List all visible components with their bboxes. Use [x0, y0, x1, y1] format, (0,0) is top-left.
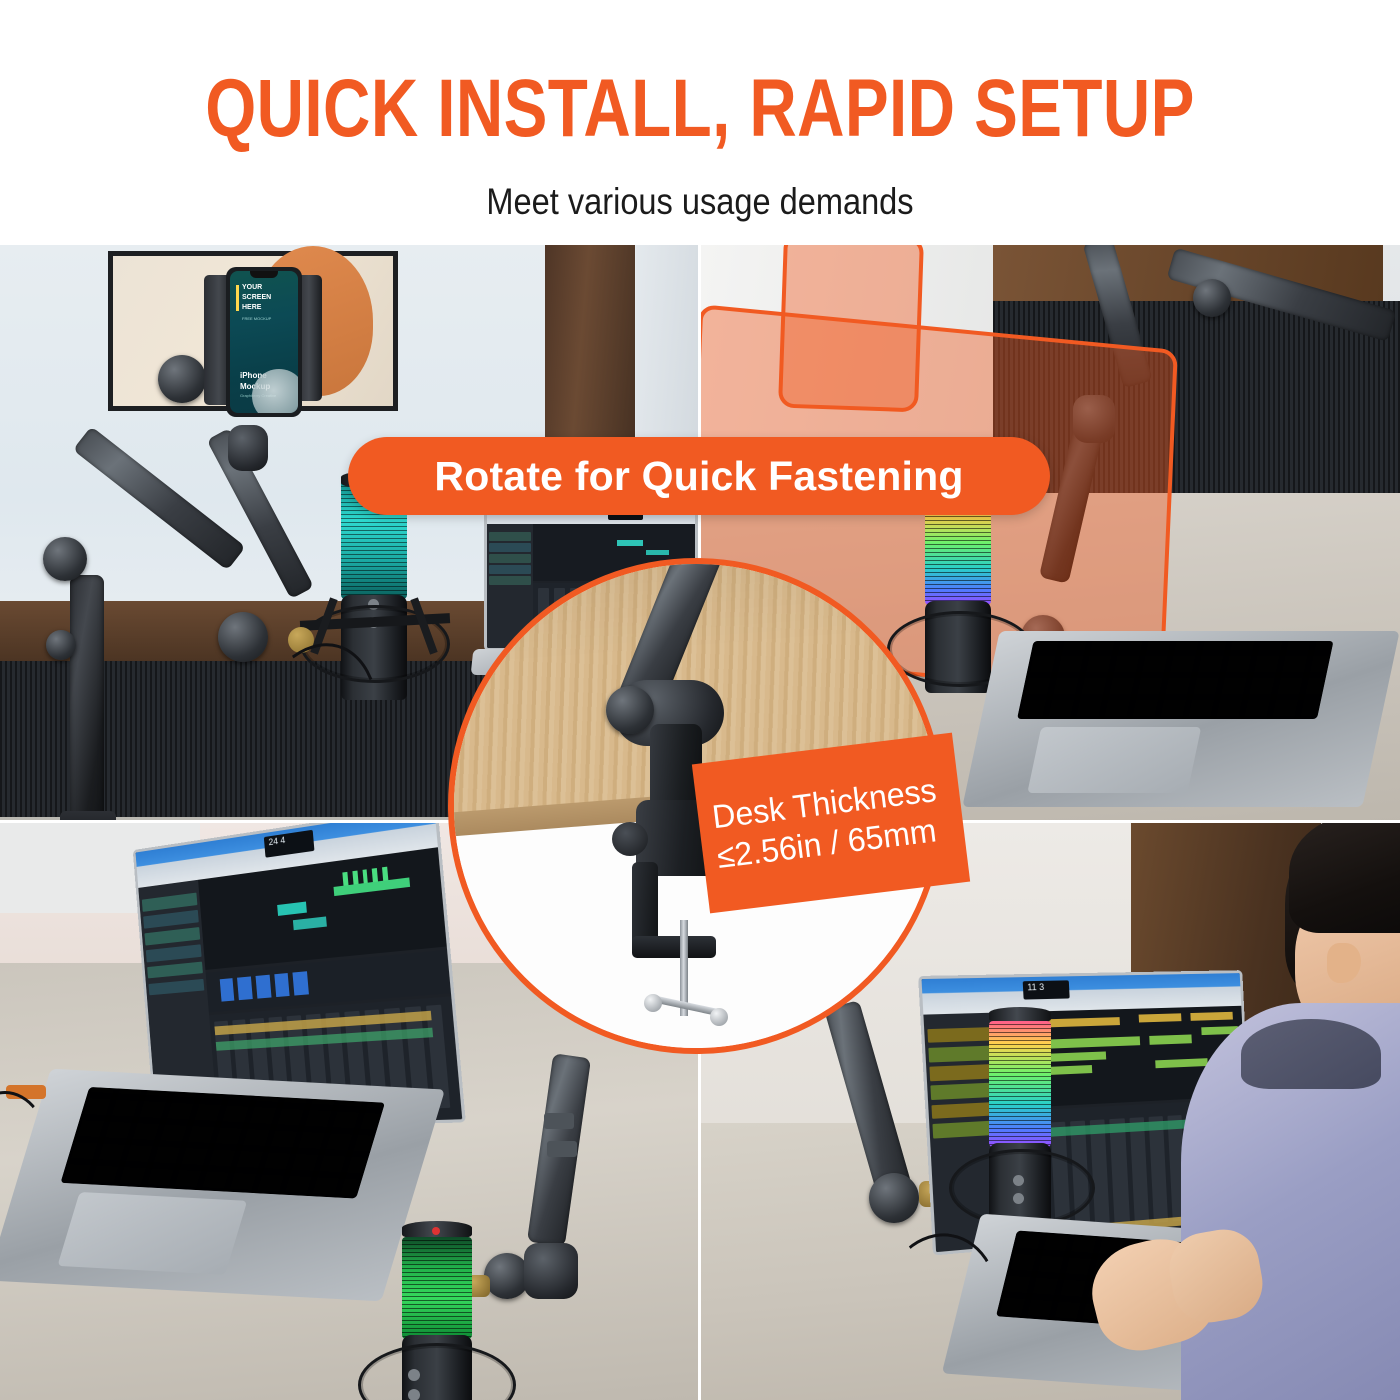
person-collar	[1241, 1019, 1381, 1089]
arm-riser-knob	[43, 537, 87, 581]
page-subtitle: Meet various usage demands	[84, 183, 1316, 220]
page-title: QUICK INSTALL, RAPID SETUP	[140, 68, 1260, 150]
mic-rgb-grille-br	[989, 1021, 1051, 1147]
header: QUICK INSTALL, RAPID SETUP Meet various …	[0, 0, 1400, 245]
laptop-keyboard-bl	[60, 1087, 385, 1199]
arm-notch-1	[544, 1113, 574, 1129]
inset-clamp-tbar-ball-right	[710, 1008, 728, 1026]
daw-region	[277, 902, 306, 917]
product-infographic: QUICK INSTALL, RAPID SETUP Meet various …	[0, 0, 1400, 1400]
laptop-keyboard-tr	[1017, 641, 1334, 719]
arm-pivot-knob	[218, 612, 268, 662]
arm-notch-2	[547, 1141, 577, 1157]
arm-knob-tr-1	[1193, 279, 1231, 317]
track-row	[489, 554, 531, 563]
track-row	[147, 961, 203, 979]
track-row	[489, 532, 531, 541]
daw-region	[293, 916, 327, 930]
inset-clamp-tbar-ball-left	[644, 994, 662, 1012]
mic-knob-bl-2	[408, 1389, 420, 1400]
phone-mockup-small: FREE MOCKUP	[242, 316, 271, 321]
daw-tempo-bl: 24 4	[268, 835, 285, 847]
arm-riser	[70, 575, 104, 820]
mic-knob-bl-1	[408, 1369, 420, 1381]
phone-mockup-line1: YOUR	[242, 283, 262, 292]
laptop-trackpad-tr	[1027, 727, 1201, 793]
daw-lcd-br: 11 3	[1023, 980, 1069, 1000]
phone-screen: YOUR SCREEN HERE FREE MOCKUP iPhone Mock…	[230, 271, 298, 413]
mic-knob-br-2	[1013, 1193, 1024, 1204]
track-row	[144, 927, 200, 945]
track-row	[928, 1045, 997, 1062]
mic-led-bl	[432, 1227, 440, 1235]
inset-clamp-foot	[632, 936, 716, 958]
track-row	[143, 910, 199, 929]
track-row	[148, 978, 204, 995]
rotate-fastening-label: Rotate for Quick Fastening	[434, 456, 963, 497]
arm-ball-joint	[228, 425, 268, 471]
inset-arm-knob	[606, 686, 654, 734]
mic-shockmount-br	[949, 1149, 1095, 1227]
laptop-base-bl	[0, 1069, 445, 1302]
phone-mockup-line3: HERE	[242, 303, 261, 312]
daw-tempo-br: 11 3	[1027, 982, 1045, 993]
phone-accent-bar	[236, 285, 239, 311]
mic-knob-br-1	[1013, 1175, 1024, 1186]
phone-mockup-line2: SCREEN	[242, 293, 271, 302]
daw-region	[373, 877, 410, 891]
track-row	[489, 543, 531, 552]
mic-rgb-grille-bl	[402, 1237, 472, 1339]
arm-joint-bl	[524, 1243, 578, 1299]
laptop-trackpad-bl	[57, 1192, 247, 1275]
daw-region	[617, 540, 643, 546]
inset-clamp-side-knob	[612, 822, 648, 856]
arm-elbow-knob	[158, 355, 206, 403]
person-hair-top	[1289, 823, 1400, 933]
phone-notch	[250, 271, 278, 278]
arm-knob-br	[869, 1173, 919, 1223]
phone: YOUR SCREEN HERE FREE MOCKUP iPhone Mock…	[226, 267, 302, 417]
laptop-base-tr	[962, 631, 1399, 807]
track-row	[142, 893, 198, 912]
desk-thickness-callout: Desk Thickness ≤2.56in / 65mm	[692, 733, 970, 914]
track-row	[146, 944, 202, 962]
arm-base-clamp	[60, 811, 116, 820]
rotate-fastening-banner: Rotate for Quick Fastening	[348, 437, 1050, 515]
daw-region	[646, 550, 669, 555]
arm-clamp-knob	[46, 630, 76, 660]
